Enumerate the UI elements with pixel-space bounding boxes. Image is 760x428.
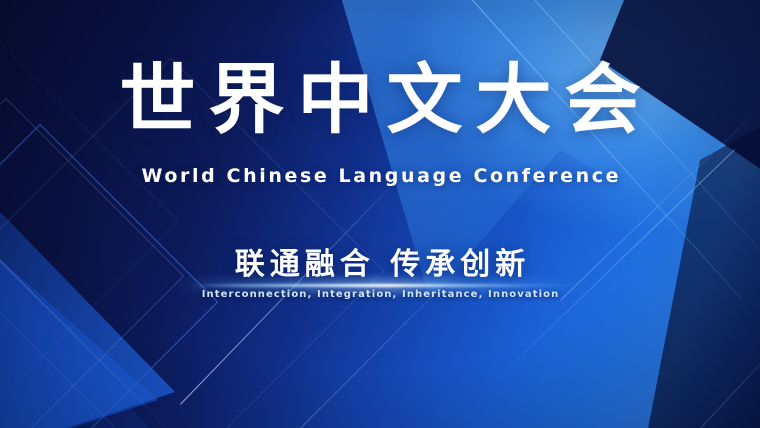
poster-content: 世界中文大会 World Chinese Language Conference… (0, 0, 760, 428)
light-streak (190, 284, 572, 287)
slogan-english: Interconnection, Integration, Inheritanc… (0, 289, 760, 300)
slogan-chinese: 联通融合 传承创新 (230, 248, 530, 281)
slogan-block: 联通融合 传承创新 (0, 248, 760, 281)
main-title-english: World Chinese Language Conference (0, 165, 760, 187)
conference-poster: 世界中文大会 World Chinese Language Conference… (0, 0, 760, 428)
main-title-chinese: 世界中文大会 (0, 62, 760, 138)
